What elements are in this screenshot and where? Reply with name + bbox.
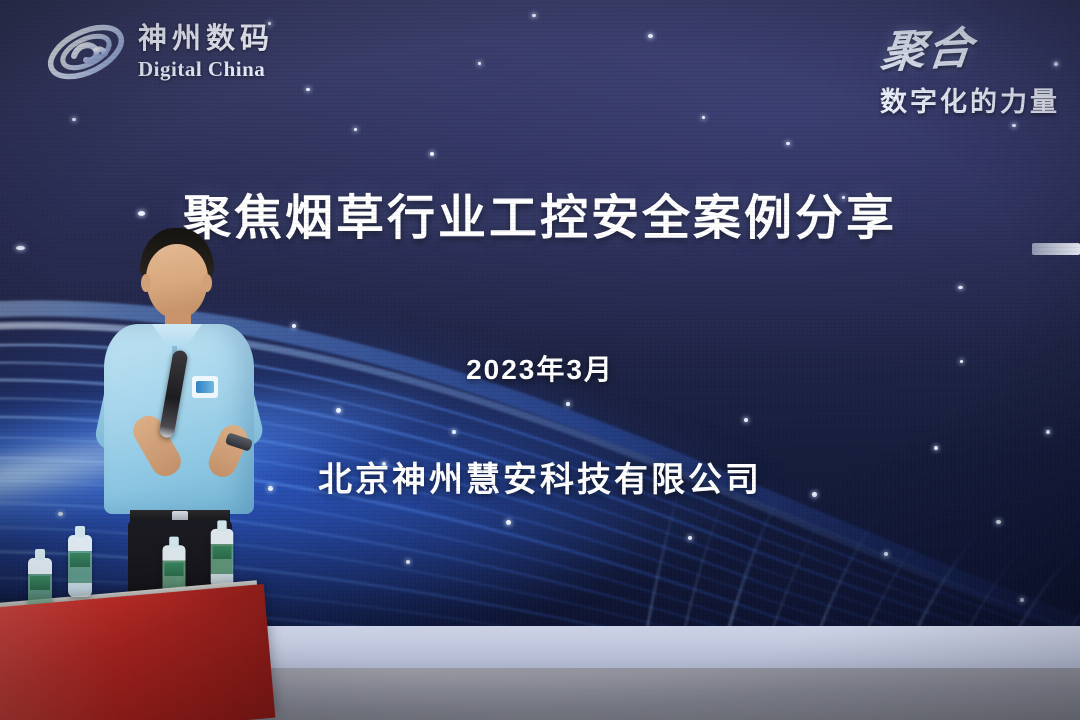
digital-china-swirl-icon (44, 20, 128, 84)
red-draped-table (0, 584, 275, 720)
brand-name-cn: 神州数码 (138, 25, 274, 54)
speaker-ear-right (202, 274, 212, 292)
screenshot-root: 神州数码 Digital China 聚合 数字化的力量 聚焦烟草行业工控安全案… (0, 0, 1080, 720)
speaker-ear-left (141, 274, 151, 292)
water-bottle (68, 535, 92, 597)
event-calligraphy: 聚合 (878, 12, 977, 81)
brand-name-en: Digital China (138, 59, 274, 80)
digital-china-wordmark: 神州数码 Digital China (138, 25, 274, 80)
digital-china-logo: 神州数码 Digital China (44, 20, 274, 84)
event-tagline: 数字化的力量 (880, 80, 1060, 119)
shirt-logo-badge (192, 376, 218, 398)
event-logo: 聚合 数字化的力量 (880, 14, 1060, 119)
water-bottle (211, 529, 234, 587)
speaker-head (146, 244, 208, 318)
